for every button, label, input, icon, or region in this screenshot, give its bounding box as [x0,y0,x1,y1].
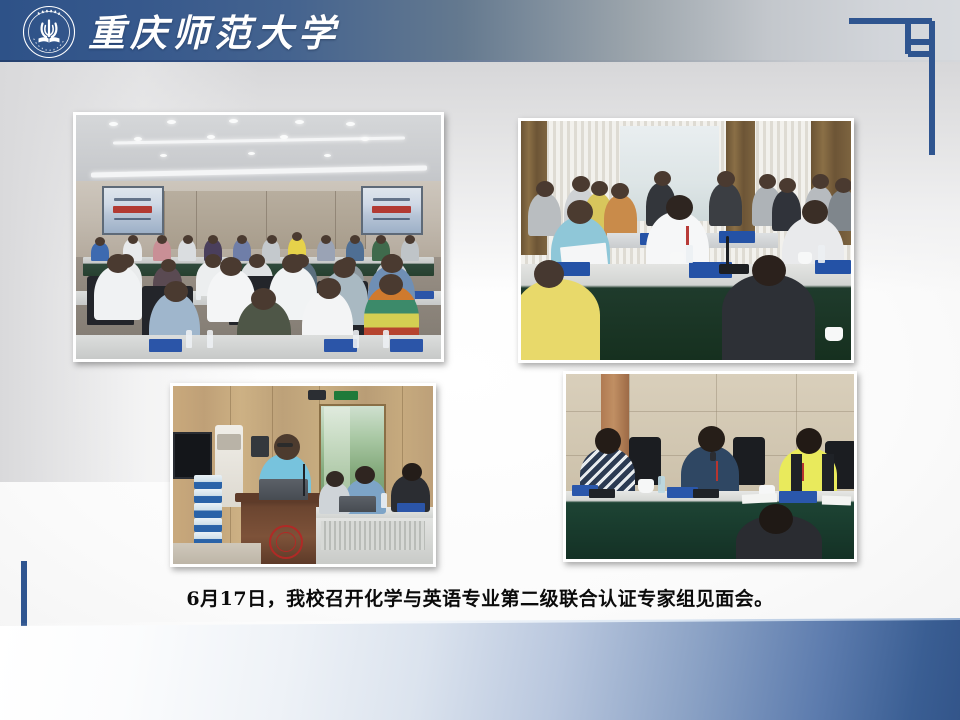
header-divider-rule [0,60,960,62]
slide-caption: 6月17日，我校召开化学与英语专业第二级联合认证专家组见面会。 [0,584,960,611]
presentation-slide: 重庆师范大学 [0,0,960,720]
corner-ornament-top-right-icon [846,8,942,158]
bottom-gradient-band [0,620,960,720]
university-emblem-icon [22,5,76,59]
photo-panelists [563,371,857,562]
photo-head-table [518,118,854,363]
university-wordmark: 重庆师范大学 [88,4,340,56]
photo-conference-hall [73,112,444,362]
photo-podium-speaker [170,383,436,567]
